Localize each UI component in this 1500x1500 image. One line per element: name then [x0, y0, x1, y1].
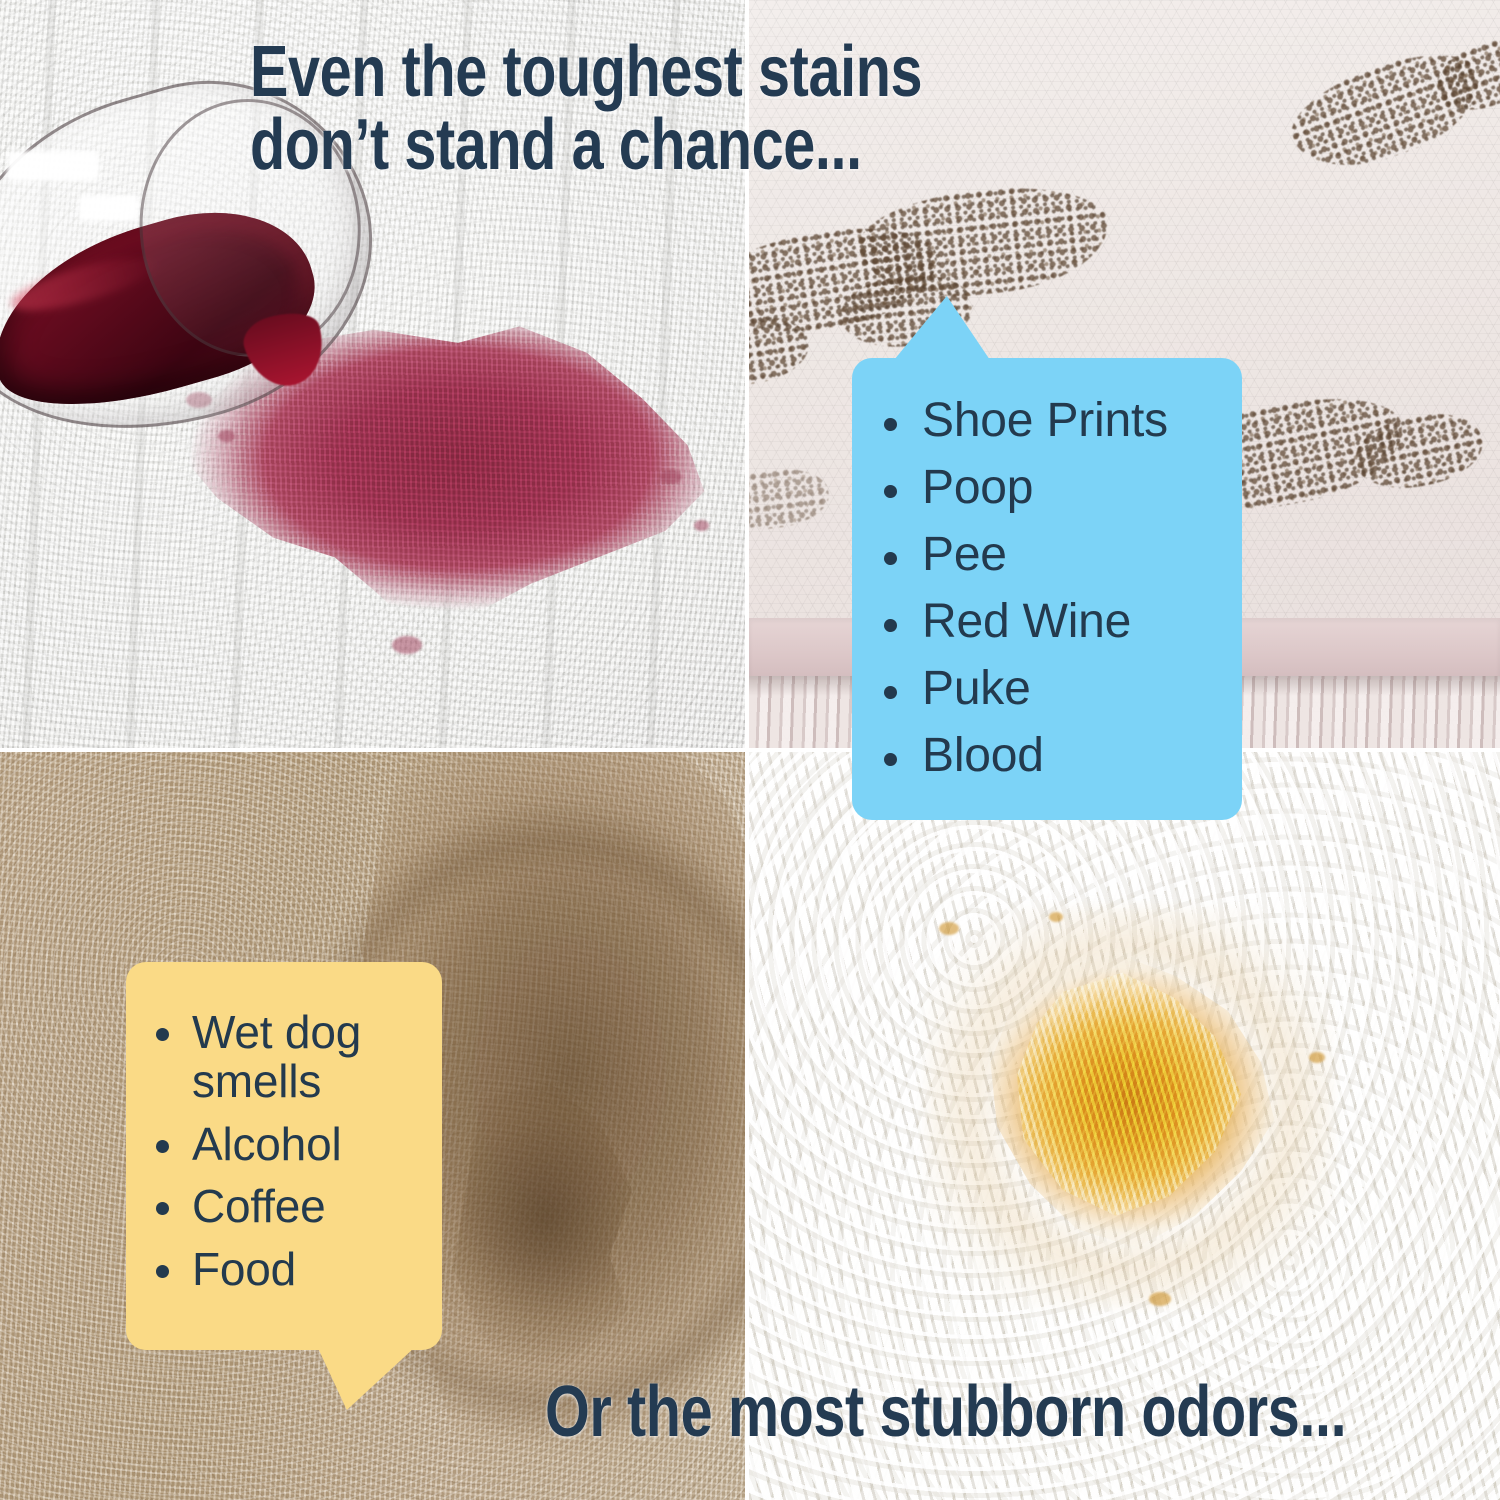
list-item: Shoe Prints: [876, 396, 1216, 446]
list-item: Puke: [876, 664, 1216, 714]
wine-droplet: [218, 430, 235, 442]
wine-droplet: [694, 520, 709, 531]
promo-poster: Even the toughest stains don’t stand a c…: [0, 0, 1500, 1500]
odors-list: Wet dog smells Alcohol Coffee Food: [148, 1008, 422, 1294]
wine-droplet: [392, 636, 422, 654]
orange-stain-fleck: [1049, 912, 1063, 922]
stains-callout: Shoe Prints Poop Pee Red Wine Puke Blood: [852, 358, 1242, 820]
orange-stain-fleck: [1309, 1052, 1325, 1063]
list-item: Red Wine: [876, 597, 1216, 647]
orange-stain-fleck: [939, 922, 959, 935]
odors-callout: Wet dog smells Alcohol Coffee Food: [126, 962, 442, 1350]
wine-droplet: [660, 470, 682, 484]
orange-stain-photo: [749, 752, 1500, 1500]
glass-highlight: [7, 151, 99, 181]
orange-stain-fleck: [1149, 1292, 1171, 1306]
glass-highlight: [79, 195, 139, 221]
list-item: Blood: [876, 731, 1216, 781]
list-item: Coffee: [148, 1182, 422, 1231]
stains-list: Shoe Prints Poop Pee Red Wine Puke Blood: [876, 396, 1216, 780]
list-item: Wet dog smells: [148, 1008, 422, 1106]
list-item: Alcohol: [148, 1120, 422, 1169]
list-item: Food: [148, 1245, 422, 1294]
list-item: Poop: [876, 463, 1216, 513]
red-wine-spill-photo: [0, 0, 745, 748]
list-item: Pee: [876, 530, 1216, 580]
